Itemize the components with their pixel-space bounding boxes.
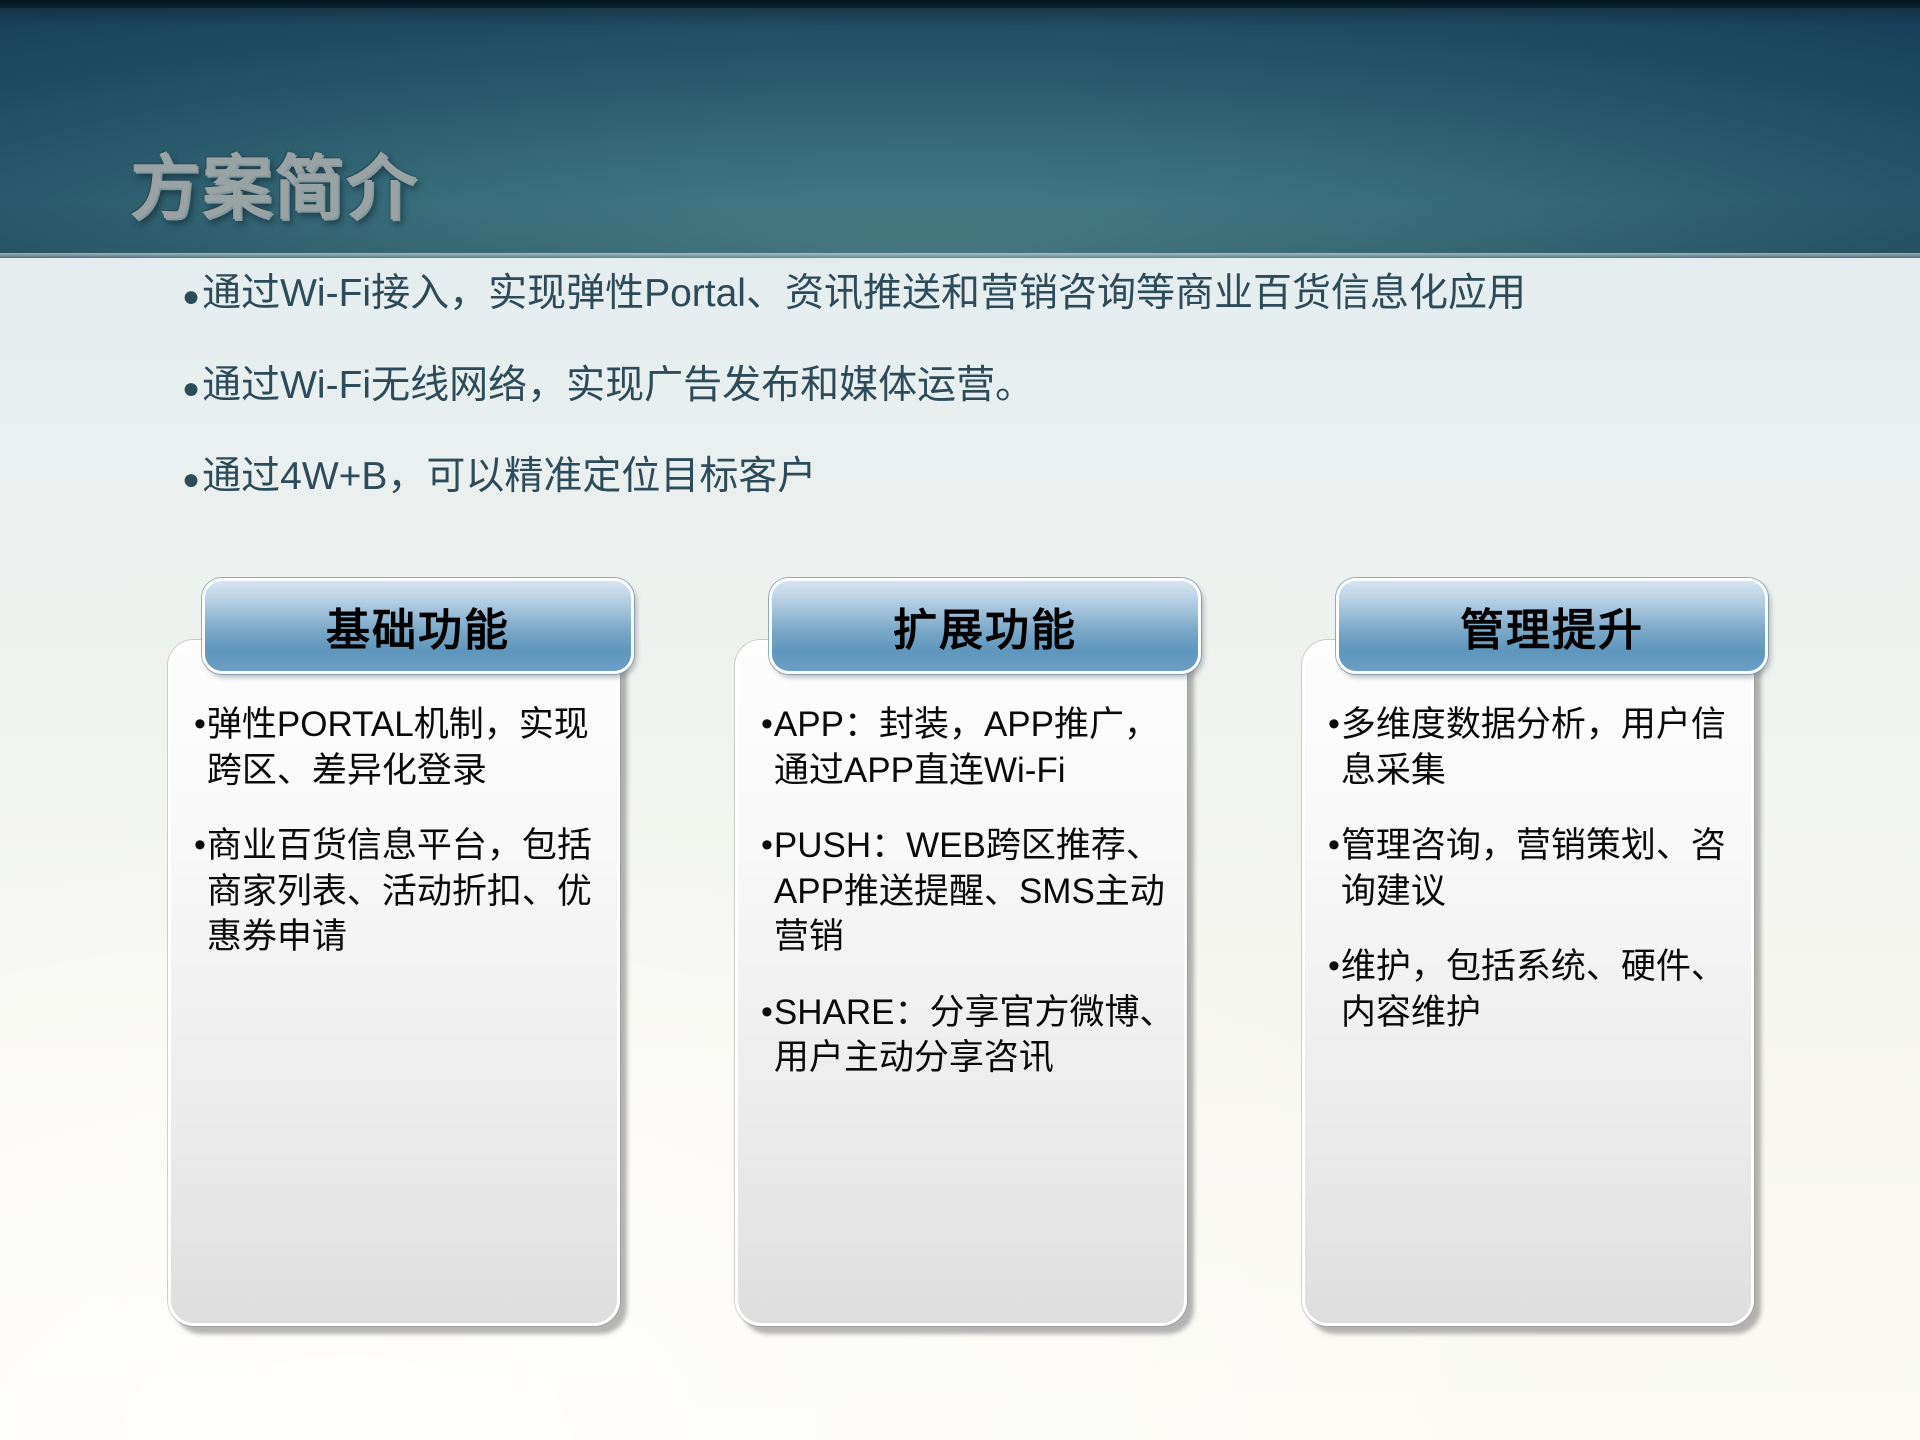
card-title: 扩展功能 (893, 594, 1077, 658)
card-header-pill[interactable]: 扩展功能 (769, 578, 1201, 674)
list-item: • SHARE：分享官方微博、用户主动分享咨讯 (761, 990, 1179, 1081)
bullet-dot-icon: • (1328, 823, 1340, 867)
slide-canvas: 方案简介 ● 通过Wi-Fi接入，实现弹性Portal、资讯推送和营销咨询等商业… (0, 0, 1920, 1440)
bullet-dot-icon: • (761, 702, 773, 746)
bullet-dot-icon: ● (182, 282, 200, 312)
list-item: • 维护，包括系统、硬件、内容维护 (1328, 944, 1746, 1035)
list-item: • 多维度数据分析，用户信息采集 (1328, 702, 1746, 793)
intro-bullet-list: ● 通过Wi-Fi接入，实现弹性Portal、资讯推送和营销咨询等商业百货信息化… (182, 272, 1842, 547)
card-header-pill[interactable]: 管理提升 (1336, 578, 1768, 674)
card-point-text: 管理咨询，营销策划、咨询建议 (1341, 823, 1746, 914)
list-item: • 弹性PORTAL机制，实现跨区、差异化登录 (194, 702, 612, 793)
bullet-dot-icon: • (761, 990, 773, 1034)
bullet-dot-icon: ● (182, 374, 200, 404)
feature-card-extended: 扩展功能 • APP：封装，APP推广，通过APP直连Wi-Fi • PUSH：… (735, 578, 1201, 1326)
feature-card-row: 基础功能 • 弹性PORTAL机制，实现跨区、差异化登录 • 商业百货信息平台，… (168, 578, 1768, 1326)
bullet-dot-icon: • (761, 823, 773, 867)
intro-item-text: 通过4W+B，可以精准定位目标客户 (202, 455, 816, 499)
card-point-text: 维护，包括系统、硬件、内容维护 (1341, 944, 1746, 1035)
intro-item-text: 通过Wi-Fi无线网络，实现广告发布和媒体运营。 (202, 364, 1034, 408)
card-point-list: • APP：封装，APP推广，通过APP直连Wi-Fi • PUSH：WEB跨区… (761, 702, 1179, 1111)
list-item: • APP：封装，APP推广，通过APP直连Wi-Fi (761, 702, 1179, 793)
header-top-rule (0, 0, 1920, 8)
card-point-text: 商业百货信息平台，包括商家列表、活动折扣、优惠券申请 (207, 823, 612, 960)
card-title: 管理提升 (1460, 594, 1644, 658)
list-item: ● 通过4W+B，可以精准定位目标客户 (182, 455, 1842, 499)
card-point-list: • 多维度数据分析，用户信息采集 • 管理咨询，营销策划、咨询建议 • 维护，包… (1328, 702, 1746, 1065)
card-title: 基础功能 (326, 594, 510, 658)
bullet-dot-icon: • (194, 823, 206, 867)
card-point-list: • 弹性PORTAL机制，实现跨区、差异化登录 • 商业百货信息平台，包括商家列… (194, 702, 612, 990)
list-item: • PUSH：WEB跨区推荐、APP推送提醒、SMS主动营销 (761, 823, 1179, 960)
list-item: • 商业百货信息平台，包括商家列表、活动折扣、优惠券申请 (194, 823, 612, 960)
feature-card-management: 管理提升 • 多维度数据分析，用户信息采集 • 管理咨询，营销策划、咨询建议 •… (1302, 578, 1768, 1326)
card-point-text: PUSH：WEB跨区推荐、APP推送提醒、SMS主动营销 (774, 823, 1179, 960)
card-point-text: 多维度数据分析，用户信息采集 (1341, 702, 1746, 793)
page-title: 方案简介 (130, 132, 418, 233)
feature-card-basic: 基础功能 • 弹性PORTAL机制，实现跨区、差异化登录 • 商业百货信息平台，… (168, 578, 634, 1326)
card-point-text: 弹性PORTAL机制，实现跨区、差异化登录 (207, 702, 612, 793)
bullet-dot-icon: • (194, 702, 206, 746)
list-item: ● 通过Wi-Fi接入，实现弹性Portal、资讯推送和营销咨询等商业百货信息化… (182, 272, 1842, 316)
card-point-text: APP：封装，APP推广，通过APP直连Wi-Fi (774, 702, 1179, 793)
list-item: • 管理咨询，营销策划、咨询建议 (1328, 823, 1746, 914)
bullet-dot-icon: • (1328, 702, 1340, 746)
card-point-text: SHARE：分享官方微博、用户主动分享咨讯 (774, 990, 1179, 1081)
bullet-dot-icon: • (1328, 944, 1340, 988)
intro-item-text: 通过Wi-Fi接入，实现弹性Portal、资讯推送和营销咨询等商业百货信息化应用 (202, 272, 1526, 316)
bullet-dot-icon: ● (182, 465, 200, 495)
card-header-pill[interactable]: 基础功能 (202, 578, 634, 674)
list-item: ● 通过Wi-Fi无线网络，实现广告发布和媒体运营。 (182, 364, 1842, 408)
